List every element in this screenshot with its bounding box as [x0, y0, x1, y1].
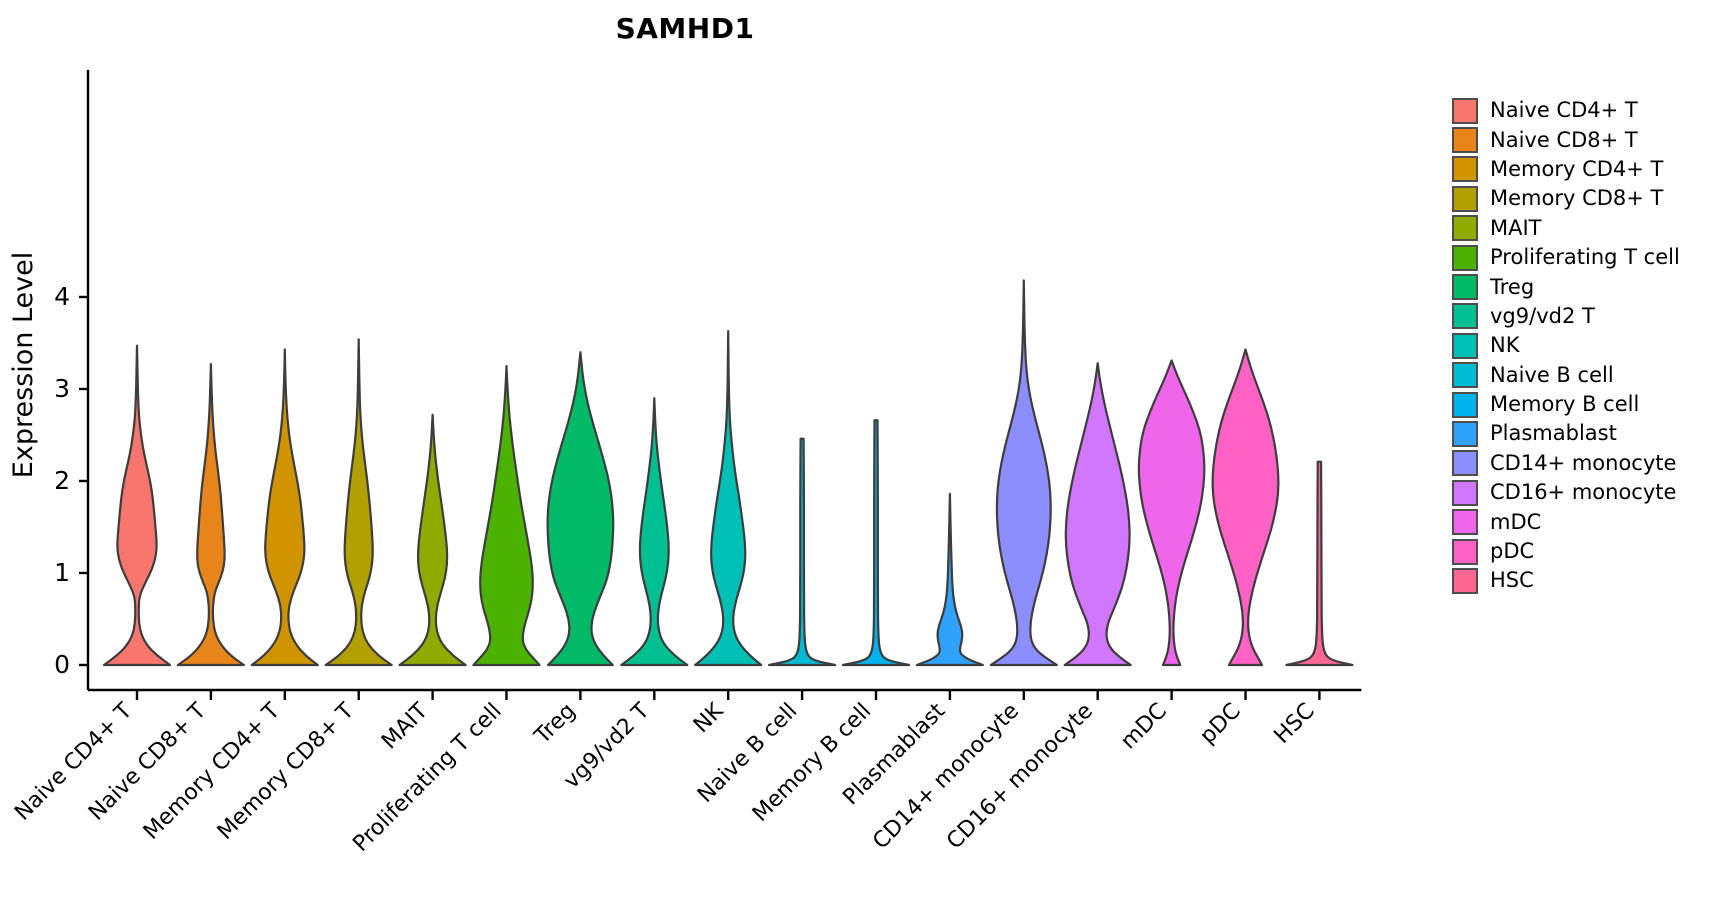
legend-item[interactable]: mDC	[1452, 507, 1680, 536]
violin-pdc[interactable]	[1213, 349, 1279, 665]
x-tick-label: MAIT	[377, 698, 433, 754]
legend-swatch-icon	[1452, 509, 1478, 535]
legend-item[interactable]: CD14+ monocyte	[1452, 449, 1680, 478]
x-tick-label: NK	[689, 698, 729, 738]
y-tick-label: 4	[54, 282, 70, 311]
legend-item[interactable]: Memory B cell	[1452, 390, 1680, 419]
violin-hsc[interactable]	[1286, 462, 1352, 665]
legend-swatch-icon	[1452, 539, 1478, 565]
legend-swatch-icon	[1452, 156, 1478, 182]
legend-item[interactable]: HSC	[1452, 566, 1680, 595]
x-tick-label: mDC	[1116, 699, 1172, 755]
x-tick-label: CD16+ monocyte	[942, 699, 1098, 855]
violin-cd14-monocyte[interactable]	[991, 280, 1057, 665]
legend-item-label: Naive CD8+ T	[1490, 130, 1638, 151]
violin-mait[interactable]	[400, 415, 466, 665]
legend-item[interactable]: Plasmablast	[1452, 419, 1680, 448]
violin-naive-cd4-t[interactable]	[104, 346, 170, 665]
legend-item-label: Plasmablast	[1490, 423, 1617, 444]
violins-group	[104, 280, 1352, 665]
violin-memory-cd4-t[interactable]	[252, 349, 318, 665]
legend-swatch-icon	[1452, 333, 1478, 359]
legend-item[interactable]: Naive B cell	[1452, 361, 1680, 390]
violin-mdc[interactable]	[1139, 360, 1204, 665]
legend-item-label: Memory B cell	[1490, 394, 1639, 415]
legend-item[interactable]: Proliferating T cell	[1452, 243, 1680, 272]
legend-item-label: CD14+ monocyte	[1490, 453, 1676, 474]
y-tick-label: 0	[54, 650, 70, 679]
legend-swatch-icon	[1452, 303, 1478, 329]
legend-item[interactable]: Memory CD8+ T	[1452, 184, 1680, 213]
legend-item[interactable]: MAIT	[1452, 214, 1680, 243]
x-tick-label: CD14+ monocyte	[868, 699, 1024, 855]
y-axis-title: Expression Level	[8, 252, 39, 478]
legend-item[interactable]: NK	[1452, 331, 1680, 360]
violin-naive-b-cell[interactable]	[769, 439, 835, 665]
legend-item-label: CD16+ monocyte	[1490, 482, 1676, 503]
legend-item-label: Naive CD4+ T	[1490, 100, 1638, 121]
x-tick-label: Proliferating T cell	[348, 699, 506, 857]
violin-nk[interactable]	[695, 331, 761, 665]
violin-memory-b-cell[interactable]	[843, 420, 909, 665]
legend-swatch-icon	[1452, 362, 1478, 388]
legend-swatch-icon	[1452, 568, 1478, 594]
legend-item-label: Naive B cell	[1490, 365, 1614, 386]
x-tick-label: pDC	[1195, 699, 1245, 749]
legend-swatch-icon	[1452, 186, 1478, 212]
legend-swatch-icon	[1452, 274, 1478, 300]
legend-swatch-icon	[1452, 215, 1478, 241]
legend-swatch-icon	[1452, 127, 1478, 153]
legend-item-label: HSC	[1490, 570, 1534, 591]
legend: Naive CD4+ TNaive CD8+ TMemory CD4+ TMem…	[1452, 96, 1680, 596]
legend-item-label: Proliferating T cell	[1490, 247, 1680, 268]
x-tick-label: HSC	[1270, 699, 1320, 749]
x-tick-label: Treg	[530, 699, 581, 750]
legend-item-label: Memory CD8+ T	[1490, 188, 1663, 209]
x-tick-label: Memory CD4+ T	[139, 698, 286, 845]
legend-swatch-icon	[1452, 421, 1478, 447]
violin-cd16-monocyte[interactable]	[1065, 363, 1131, 665]
violin-plot-figure: SAMHD1 01234Expression Level Naive CD4+ …	[0, 0, 1717, 900]
y-tick-label: 3	[54, 374, 70, 403]
violin-plasmablast[interactable]	[917, 494, 983, 665]
legend-item[interactable]: Naive CD8+ T	[1452, 125, 1680, 154]
violin-proliferating-t-cell[interactable]	[474, 366, 540, 665]
violin-treg[interactable]	[548, 352, 614, 665]
legend-item-label: Memory CD4+ T	[1490, 159, 1663, 180]
legend-swatch-icon	[1452, 450, 1478, 476]
x-axis-labels: Naive CD4+ TNaive CD8+ TMemory CD4+ TMem…	[10, 698, 1320, 857]
legend-swatch-icon	[1452, 98, 1478, 124]
legend-item-label: Treg	[1490, 277, 1534, 298]
legend-item-label: pDC	[1490, 541, 1534, 562]
legend-item-label: NK	[1490, 335, 1519, 356]
violin-memory-cd8-t[interactable]	[326, 339, 392, 665]
legend-swatch-icon	[1452, 480, 1478, 506]
legend-item[interactable]: pDC	[1452, 537, 1680, 566]
legend-item-label: mDC	[1490, 512, 1541, 533]
legend-item[interactable]: Treg	[1452, 272, 1680, 301]
violin-naive-cd8-t[interactable]	[178, 364, 244, 665]
legend-item-label: vg9/vd2 T	[1490, 306, 1595, 327]
legend-item[interactable]: Memory CD4+ T	[1452, 155, 1680, 184]
legend-swatch-icon	[1452, 392, 1478, 418]
legend-item[interactable]: CD16+ monocyte	[1452, 478, 1680, 507]
legend-swatch-icon	[1452, 245, 1478, 271]
legend-item-label: MAIT	[1490, 218, 1542, 239]
y-tick-label: 2	[54, 466, 70, 495]
legend-item[interactable]: vg9/vd2 T	[1452, 302, 1680, 331]
y-tick-label: 1	[54, 558, 70, 587]
legend-item[interactable]: Naive CD4+ T	[1452, 96, 1680, 125]
x-tick-label: Memory CD8+ T	[213, 698, 360, 845]
violin-vg9-vd2-t[interactable]	[621, 398, 687, 665]
